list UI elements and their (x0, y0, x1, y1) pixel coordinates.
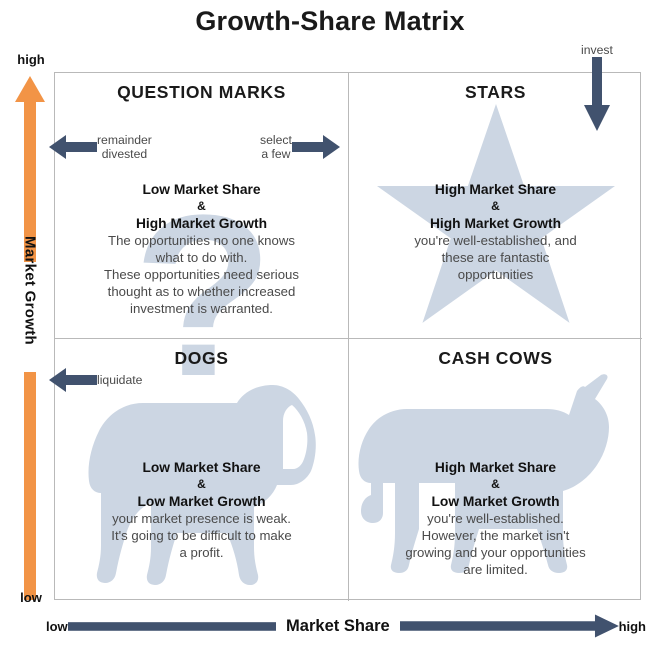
ampersand-stars: & (357, 198, 634, 215)
share-label-stars: High Market Share (357, 181, 634, 198)
arrow-down-icon (582, 57, 612, 131)
quadrant-body-stars: High Market Share & High Market Growth y… (357, 181, 634, 283)
callout-select-a-few[interactable]: select a few (260, 133, 340, 161)
callout-label-remainder-divested: remainder divested (97, 133, 152, 161)
desc-line: These opportunities need serious (63, 266, 340, 283)
quadrant-body-cash-cows: High Market Share & Low Market Growth yo… (357, 459, 634, 578)
ampersand-cash-cows: & (357, 476, 634, 493)
desc-line: However, the market isn't (357, 527, 634, 544)
x-axis: low Market Share high (46, 612, 646, 640)
desc-line: investment is warranted. (63, 300, 340, 317)
desc-line: growing and your opportunities (357, 544, 634, 561)
ampersand-question-marks: & (63, 198, 340, 215)
callout-label-liquidate: liquidate (97, 373, 142, 387)
quadrant-question-marks[interactable]: ? QUESTION MARKS remainder divested sele… (55, 73, 348, 338)
desc-line: opportunities (357, 266, 634, 283)
page-title: Growth-Share Matrix (0, 6, 660, 37)
growth-label-question-marks: High Market Growth (63, 215, 340, 232)
y-axis-title: Market Growth (22, 225, 39, 357)
x-axis-bar-left (68, 617, 276, 635)
y-axis-low-label: low (12, 590, 50, 605)
quadrant-title-dogs: DOGS (55, 348, 348, 369)
growth-share-matrix-diagram: Growth-Share Matrix high low Market Grow… (0, 0, 660, 646)
share-label-cash-cows: High Market Share (357, 459, 634, 476)
quadrant-dogs[interactable]: DOGS liquidate Low Market Share & Low Ma… (55, 339, 348, 601)
desc-line: you're well-established. (357, 510, 634, 527)
desc-line: you're well-established, and (357, 232, 634, 249)
y-axis: high low Market Growth (14, 72, 46, 600)
matrix-grid: ? QUESTION MARKS remainder divested sele… (54, 72, 641, 600)
arrow-right-icon (292, 134, 340, 160)
arrow-left-icon (49, 367, 97, 393)
desc-line: thought as to whether increased (63, 283, 340, 300)
desc-line: a profit. (63, 544, 340, 561)
y-axis-high-label: high (12, 52, 50, 67)
desc-line: these are fantastic (357, 249, 634, 266)
growth-label-dogs: Low Market Growth (63, 493, 340, 510)
x-axis-low-label: low (46, 619, 68, 634)
callout-liquidate[interactable]: liquidate (49, 367, 142, 393)
callout-remainder-divested[interactable]: remainder divested (49, 133, 152, 161)
growth-label-cash-cows: Low Market Growth (357, 493, 634, 510)
quadrant-body-dogs: Low Market Share & Low Market Growth you… (63, 459, 340, 561)
x-axis-arrow-right-icon (400, 613, 619, 639)
desc-line: are limited. (357, 561, 634, 578)
share-label-question-marks: Low Market Share (63, 181, 340, 198)
growth-label-stars: High Market Growth (357, 215, 634, 232)
callout-label-invest: invest (581, 43, 613, 57)
x-axis-high-label: high (619, 619, 646, 634)
arrow-left-icon (49, 134, 97, 160)
desc-line: what to do with. (63, 249, 340, 266)
desc-line: The opportunities no one knows (63, 232, 340, 249)
callout-invest[interactable]: invest (581, 43, 613, 131)
quadrant-body-question-marks: Low Market Share & High Market Growth Th… (63, 181, 340, 317)
quadrant-stars[interactable]: STARS invest High Market Share & High Ma… (349, 73, 642, 338)
quadrant-cash-cows[interactable]: CASH COWS High Market Share & Low Market… (349, 339, 642, 601)
quadrant-title-cash-cows: CASH COWS (349, 348, 642, 369)
x-axis-title: Market Share (276, 617, 400, 636)
ampersand-dogs: & (63, 476, 340, 493)
desc-line: your market presence is weak. (63, 510, 340, 527)
callout-label-select-a-few: select a few (260, 133, 292, 161)
desc-line: It's going to be difficult to make (63, 527, 340, 544)
share-label-dogs: Low Market Share (63, 459, 340, 476)
quadrant-title-question-marks: QUESTION MARKS (55, 82, 348, 103)
